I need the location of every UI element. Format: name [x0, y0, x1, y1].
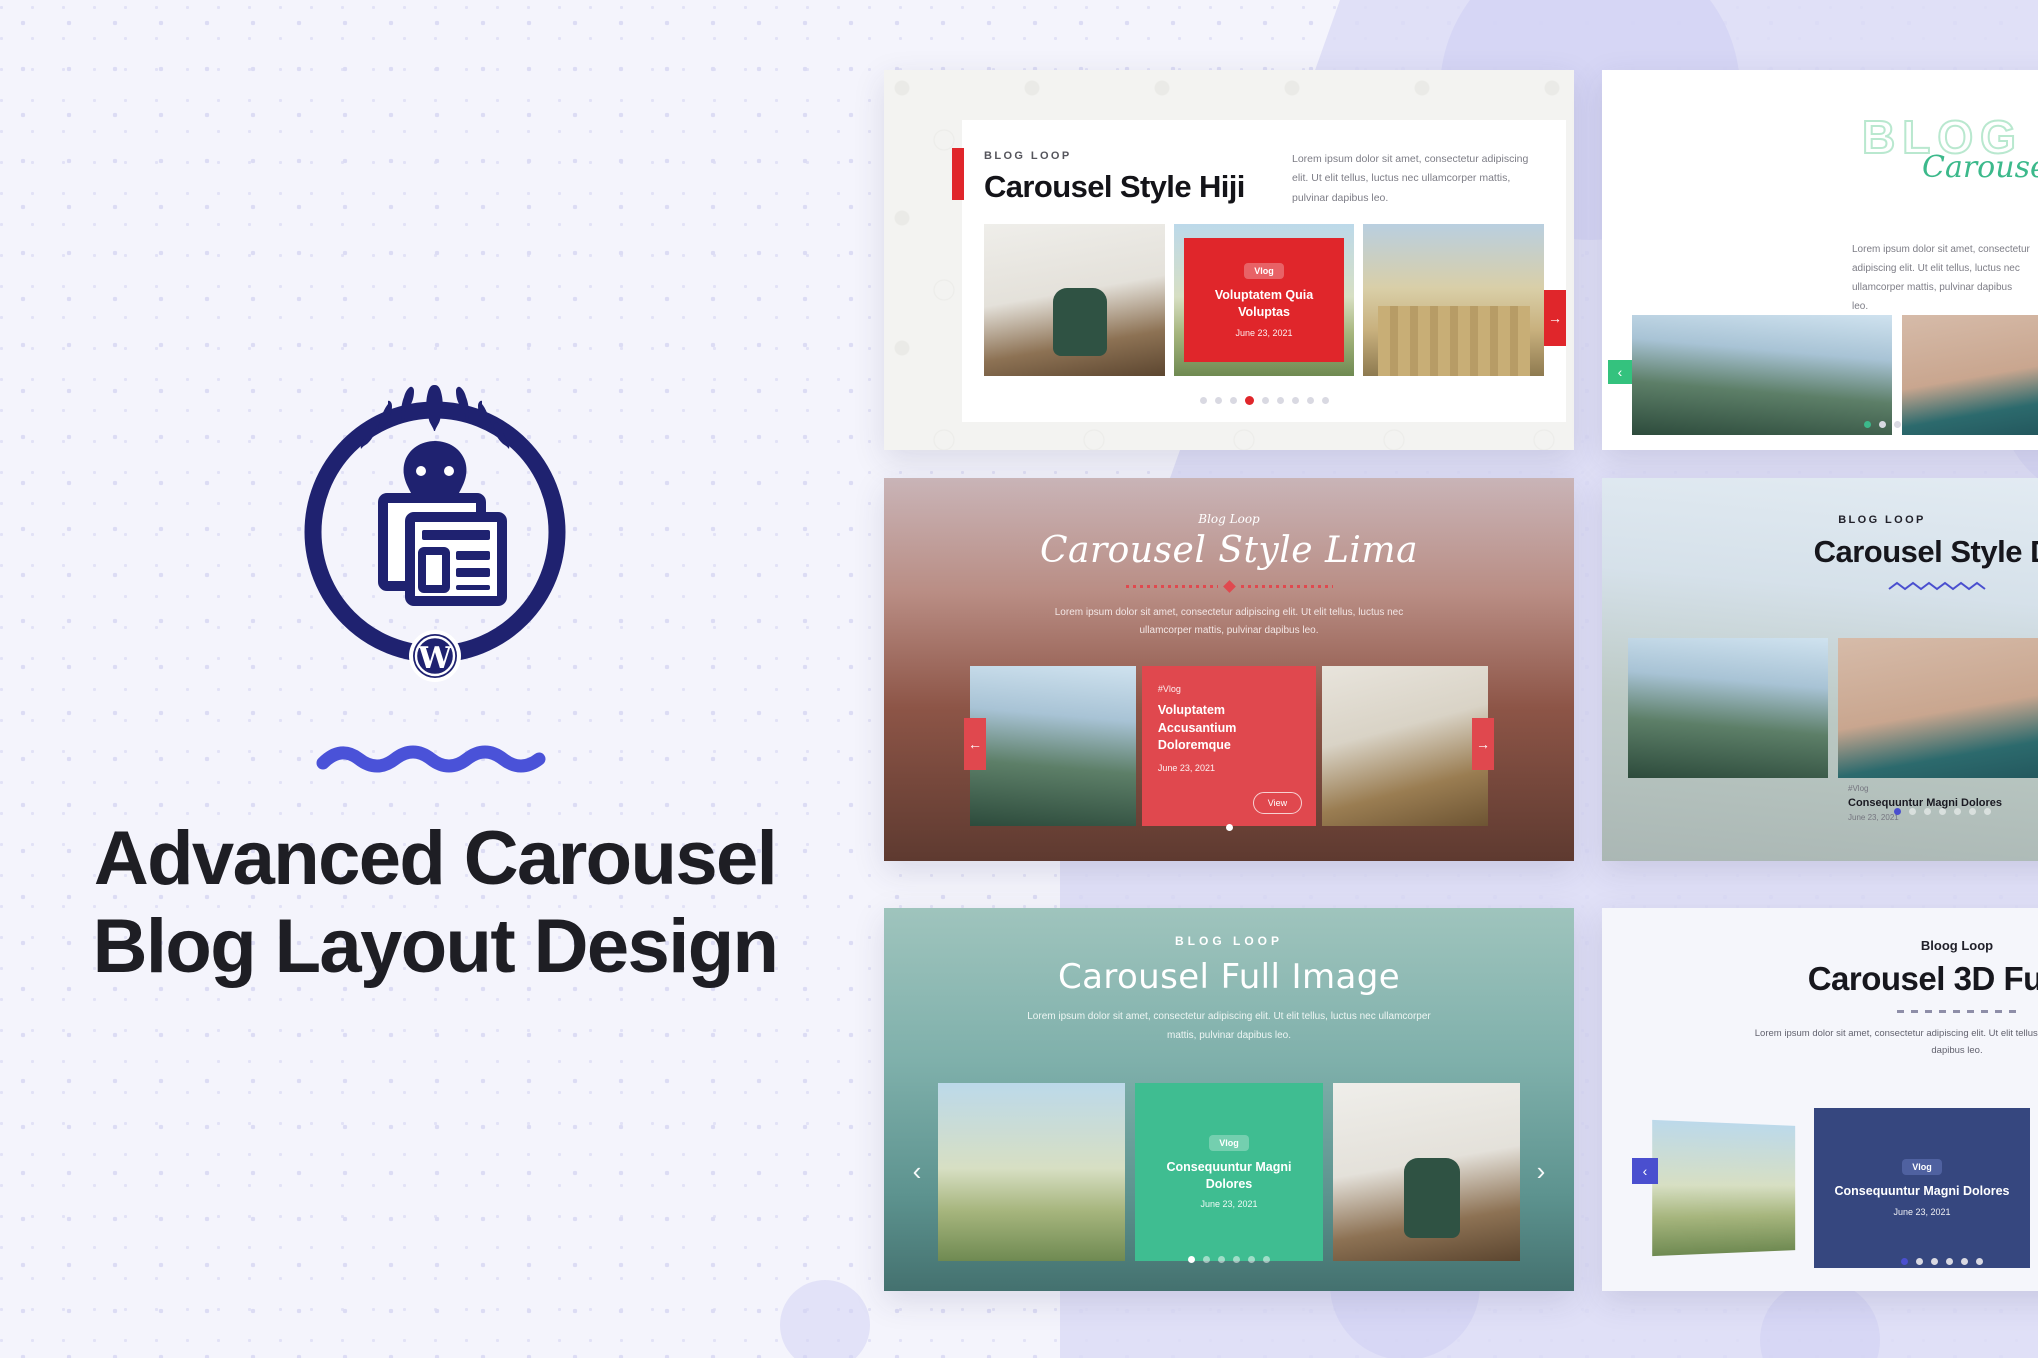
duo-slide-2[interactable]: [1838, 638, 2038, 778]
dot[interactable]: [1909, 808, 1916, 815]
poster-stage: W Advanced Carousel Blog Layout Design B…: [0, 0, 2038, 1358]
prev-arrow-button[interactable]: ←: [964, 718, 986, 770]
next-arrow-button[interactable]: →: [1472, 718, 1494, 770]
dot[interactable]: [1961, 1258, 1968, 1265]
dot[interactable]: [1307, 397, 1314, 404]
slide-photo: [970, 666, 1136, 826]
dot[interactable]: [1218, 1256, 1225, 1263]
d3-slide-2-active[interactable]: Vlog Consequuntur Magni Dolores June 23,…: [1814, 1108, 2030, 1268]
prev-arrow-button[interactable]: ‹: [1608, 360, 1632, 384]
duo-slide-1[interactable]: [1628, 638, 1828, 778]
d3-slide-badge: Vlog: [1902, 1159, 1942, 1175]
svg-text:W: W: [417, 641, 453, 676]
dot[interactable]: [1277, 397, 1284, 404]
mockup-carousel-3d-full-image[interactable]: Bloog Loop Carousel 3D Ful lim Lorem ips…: [1602, 908, 2038, 1291]
mockup-carousel-full-image[interactable]: BLOG LOOP Carousel Full Image Lorem ipsu…: [884, 908, 1574, 1291]
slide-photo: [1333, 1083, 1520, 1261]
duo-kicker: BLOG LOOP: [1602, 514, 2038, 526]
lima-slide-date: June 23, 2021: [1158, 763, 1300, 773]
zigzag-divider-icon: [1887, 580, 1997, 592]
dot[interactable]: [1263, 1256, 1270, 1263]
lima-divider-icon: [884, 582, 1574, 591]
hiji-title: Carousel Style Hiji: [984, 169, 1245, 205]
slide-photo: [1838, 638, 2038, 778]
full-image-slide-title: Consequuntur Magni Dolores: [1145, 1159, 1312, 1193]
dot-active[interactable]: [1864, 421, 1871, 428]
lima-pagination[interactable]: [884, 824, 1574, 831]
headline-line-1: Advanced Carousel: [94, 816, 776, 901]
d3-kicker: Bloog Loop: [1722, 938, 2038, 953]
d3-slide-1[interactable]: [1652, 1120, 1795, 1256]
slide-photo: [938, 1083, 1125, 1261]
mockup-carousel-geo[interactable]: BLOG LOOP Carousel Style Ge Lorem ipsum …: [1602, 70, 2038, 450]
full-image-slide-2-active[interactable]: Vlog Consequuntur Magni Dolores June 23,…: [1135, 1083, 1322, 1261]
geo-slide-2[interactable]: [1902, 315, 2038, 435]
geo-title: Carousel Style Ge: [1922, 150, 2038, 185]
full-image-slide-overlay: Vlog Consequuntur Magni Dolores June 23,…: [1135, 1083, 1322, 1261]
geo-slide-1[interactable]: [1632, 315, 1892, 435]
full-image-title: Carousel Full Image: [884, 957, 1574, 997]
slide-photo: [1652, 1120, 1795, 1256]
dot[interactable]: [1262, 397, 1269, 404]
deer-newspaper-wordpress-logo: W: [270, 367, 600, 697]
dot-active[interactable]: [1226, 824, 1233, 831]
mockup-grid: BLOG LOOP Carousel Style Hiji Lorem ipsu…: [884, 0, 2038, 1358]
lima-view-button[interactable]: View: [1253, 792, 1302, 814]
d3-description: Lorem ipsum dolor sit amet, consectetur …: [1747, 1025, 2038, 1059]
dot[interactable]: [1879, 421, 1886, 428]
hiji-slide-title: Voluptatem Quia Voluptas: [1194, 287, 1335, 321]
dot[interactable]: [1322, 397, 1329, 404]
d3-slide-date: June 23, 2021: [1893, 1207, 1950, 1217]
duo-title: Carousel Style Du: [1722, 534, 2038, 570]
left-branding-panel: W Advanced Carousel Blog Layout Design: [0, 0, 870, 1358]
lima-kicker: Blog Loop: [884, 512, 1574, 526]
prev-arrow-button[interactable]: ‹: [902, 1156, 932, 1186]
hiji-slide-overlay: Vlog Voluptatem Quia Voluptas June 23, 2…: [1184, 238, 1345, 362]
duo-pagination[interactable]: [1722, 808, 2038, 815]
dot[interactable]: [1954, 808, 1961, 815]
dot-active[interactable]: [1894, 808, 1901, 815]
next-arrow-button[interactable]: ›: [1526, 1156, 1556, 1186]
dot[interactable]: [1916, 1258, 1923, 1265]
dot[interactable]: [1203, 1256, 1210, 1263]
lima-slide-badge: #Vlog: [1158, 684, 1300, 694]
slide-photo: [1628, 638, 1828, 778]
mockup-carousel-duo[interactable]: BLOG LOOP Carousel Style Du #Vlog Conseq…: [1602, 478, 2038, 861]
next-arrow-button[interactable]: →: [1544, 290, 1566, 346]
dot[interactable]: [1939, 808, 1946, 815]
dot[interactable]: [1984, 808, 1991, 815]
lima-slide-2-active[interactable]: #Vlog Voluptatem Accusantium Doloremque …: [1142, 666, 1316, 826]
headline-line-2: Blog Layout Design: [93, 903, 778, 991]
hiji-slide-date: June 23, 2021: [1235, 328, 1292, 338]
dot[interactable]: [1292, 397, 1299, 404]
dot-active[interactable]: [1188, 1256, 1195, 1263]
d3-pagination[interactable]: [1722, 1258, 2038, 1265]
slide-photo: [1902, 315, 2038, 435]
dot[interactable]: [1200, 397, 1207, 404]
brand-logo: W: [270, 367, 600, 697]
lima-title: Carousel Style Lima: [884, 530, 1574, 571]
lima-slide-title: Voluptatem Accusantium Doloremque: [1158, 702, 1300, 755]
d3-slide-title: Consequuntur Magni Dolores: [1835, 1183, 2010, 1200]
dot[interactable]: [1233, 1256, 1240, 1263]
slide-photo: [1363, 224, 1544, 376]
dot[interactable]: [1248, 1256, 1255, 1263]
dot[interactable]: [1946, 1258, 1953, 1265]
prev-arrow-button[interactable]: ‹: [1632, 1158, 1658, 1184]
hiji-content: BLOG LOOP Carousel Style Hiji Lorem ipsu…: [962, 120, 1566, 422]
geo-pagination[interactable]: [1602, 421, 2038, 428]
mockup-carousel-hiji[interactable]: BLOG LOOP Carousel Style Hiji Lorem ipsu…: [884, 70, 1574, 450]
dot[interactable]: [1969, 808, 1976, 815]
dot-active[interactable]: [1901, 1258, 1908, 1265]
slide-photo: [984, 224, 1165, 376]
dot[interactable]: [1976, 1258, 1983, 1265]
dot[interactable]: [1230, 397, 1237, 404]
lima-description: Lorem ipsum dolor sit amet, consectetur …: [1029, 604, 1429, 640]
d3-slide-overlay: Vlog Consequuntur Magni Dolores June 23,…: [1814, 1108, 2030, 1268]
hiji-kicker: BLOG LOOP: [984, 150, 1245, 162]
duo-slide-badge: #Vlog: [1848, 784, 2002, 793]
dot[interactable]: [1924, 808, 1931, 815]
hiji-slide-2-active[interactable]: Vlog Voluptatem Quia Voluptas June 23, 2…: [1174, 224, 1355, 376]
full-image-slide-3[interactable]: [1333, 1083, 1520, 1261]
full-image-description: Lorem ipsum dolor sit amet, consectetur …: [1014, 1008, 1444, 1045]
page-title: Advanced Carousel Blog Layout Design: [93, 815, 778, 991]
full-image-slide-badge: Vlog: [1209, 1135, 1249, 1151]
lima-slide-1[interactable]: [970, 666, 1136, 826]
slide-photo: [1632, 315, 1892, 435]
full-image-slide-1[interactable]: [938, 1083, 1125, 1261]
full-image-pagination[interactable]: [884, 1256, 1574, 1263]
dot-active[interactable]: [1245, 396, 1254, 405]
full-image-kicker: BLOG LOOP: [884, 934, 1574, 948]
dashed-divider-icon: [1897, 1010, 2017, 1013]
dot[interactable]: [1215, 397, 1222, 404]
geo-description: Lorem ipsum dolor sit amet, consectetur …: [1852, 240, 2031, 316]
lima-slide-3[interactable]: [1322, 666, 1488, 826]
dot[interactable]: [1931, 1258, 1938, 1265]
hiji-pagination[interactable]: [962, 396, 1566, 405]
hiji-slide-1[interactable]: [984, 224, 1165, 376]
hiji-slide-badge: Vlog: [1244, 263, 1284, 279]
wave-divider-icon: [315, 741, 555, 775]
slide-photo: [1322, 666, 1488, 826]
accent-bar: [952, 148, 964, 200]
dot[interactable]: [1894, 421, 1901, 428]
d3-title: Carousel 3D Ful lim: [1722, 960, 2038, 998]
hiji-description: Lorem ipsum dolor sit amet, consectetur …: [1292, 150, 1542, 208]
hiji-slide-3[interactable]: [1363, 224, 1544, 376]
full-image-slide-date: June 23, 2021: [1200, 1199, 1257, 1209]
mockup-carousel-lima[interactable]: Blog Loop Carousel Style Lima Lorem ipsu…: [884, 478, 1574, 861]
